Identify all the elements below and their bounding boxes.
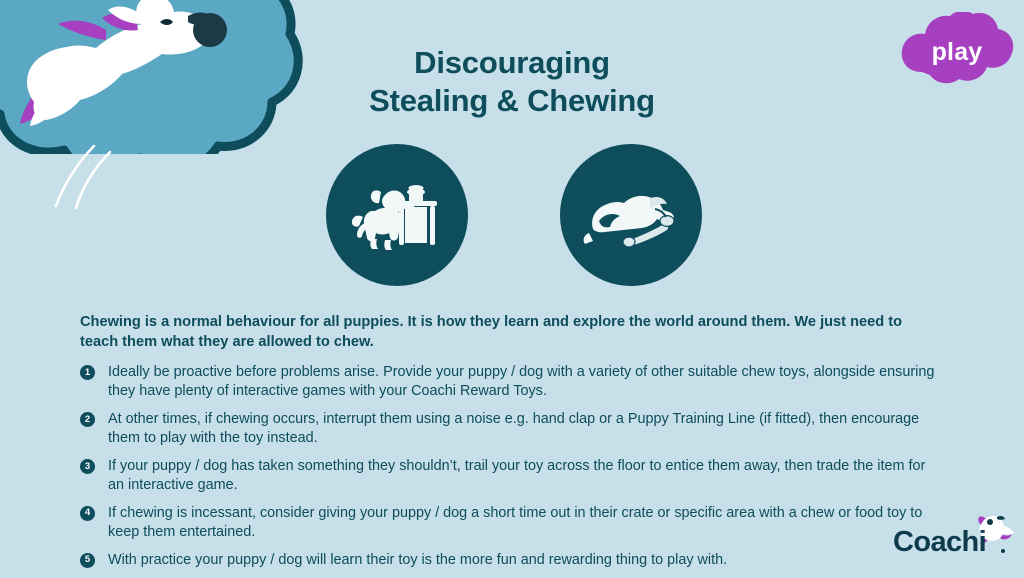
coachi-logo: Coachi	[893, 512, 1018, 567]
list-item: 3 If your puppy / dog has taken somethin…	[80, 457, 942, 495]
list-item-number: 3	[80, 459, 95, 474]
intro-paragraph: Chewing is a normal behaviour for all pu…	[80, 313, 940, 352]
dog-stealing-from-table-icon	[326, 144, 468, 286]
coachi-registered-dot	[1001, 549, 1005, 553]
icon-row	[0, 144, 1024, 290]
list-item-text: With practice your puppy / dog will lear…	[108, 551, 942, 570]
list-item-number: 2	[80, 412, 95, 427]
dog-chewing-toy-icon	[560, 144, 702, 286]
list-item-number: 5	[80, 553, 95, 568]
list-item-text: If your puppy / dog has taken something …	[108, 457, 942, 495]
list-item-text: At other times, if chewing occurs, inter…	[108, 410, 942, 448]
list-item-text: If chewing is incessant, consider giving…	[108, 504, 942, 542]
list-item-number: 1	[80, 365, 95, 380]
title-line-1: Discouraging	[414, 45, 610, 80]
title-line-2: Stealing & Chewing	[0, 82, 1024, 120]
list-item-text: Ideally be proactive before problems ari…	[108, 363, 942, 401]
coachi-wordmark: Coachi	[893, 526, 986, 559]
page-title: Discouraging Stealing & Chewing	[0, 44, 1024, 120]
list-item: 2 At other times, if chewing occurs, int…	[80, 410, 942, 448]
list-item-number: 4	[80, 506, 95, 521]
poster-canvas: play Discouraging Stealing & Chewing	[0, 0, 1024, 577]
tips-list: 1 Ideally be proactive before problems a…	[80, 363, 942, 578]
intro-line-1: Chewing is a normal behaviour for all pu…	[80, 314, 790, 330]
list-item: 1 Ideally be proactive before problems a…	[80, 363, 942, 401]
list-item: 5 With practice your puppy / dog will le…	[80, 551, 942, 570]
list-item: 4 If chewing is incessant, consider givi…	[80, 504, 942, 542]
